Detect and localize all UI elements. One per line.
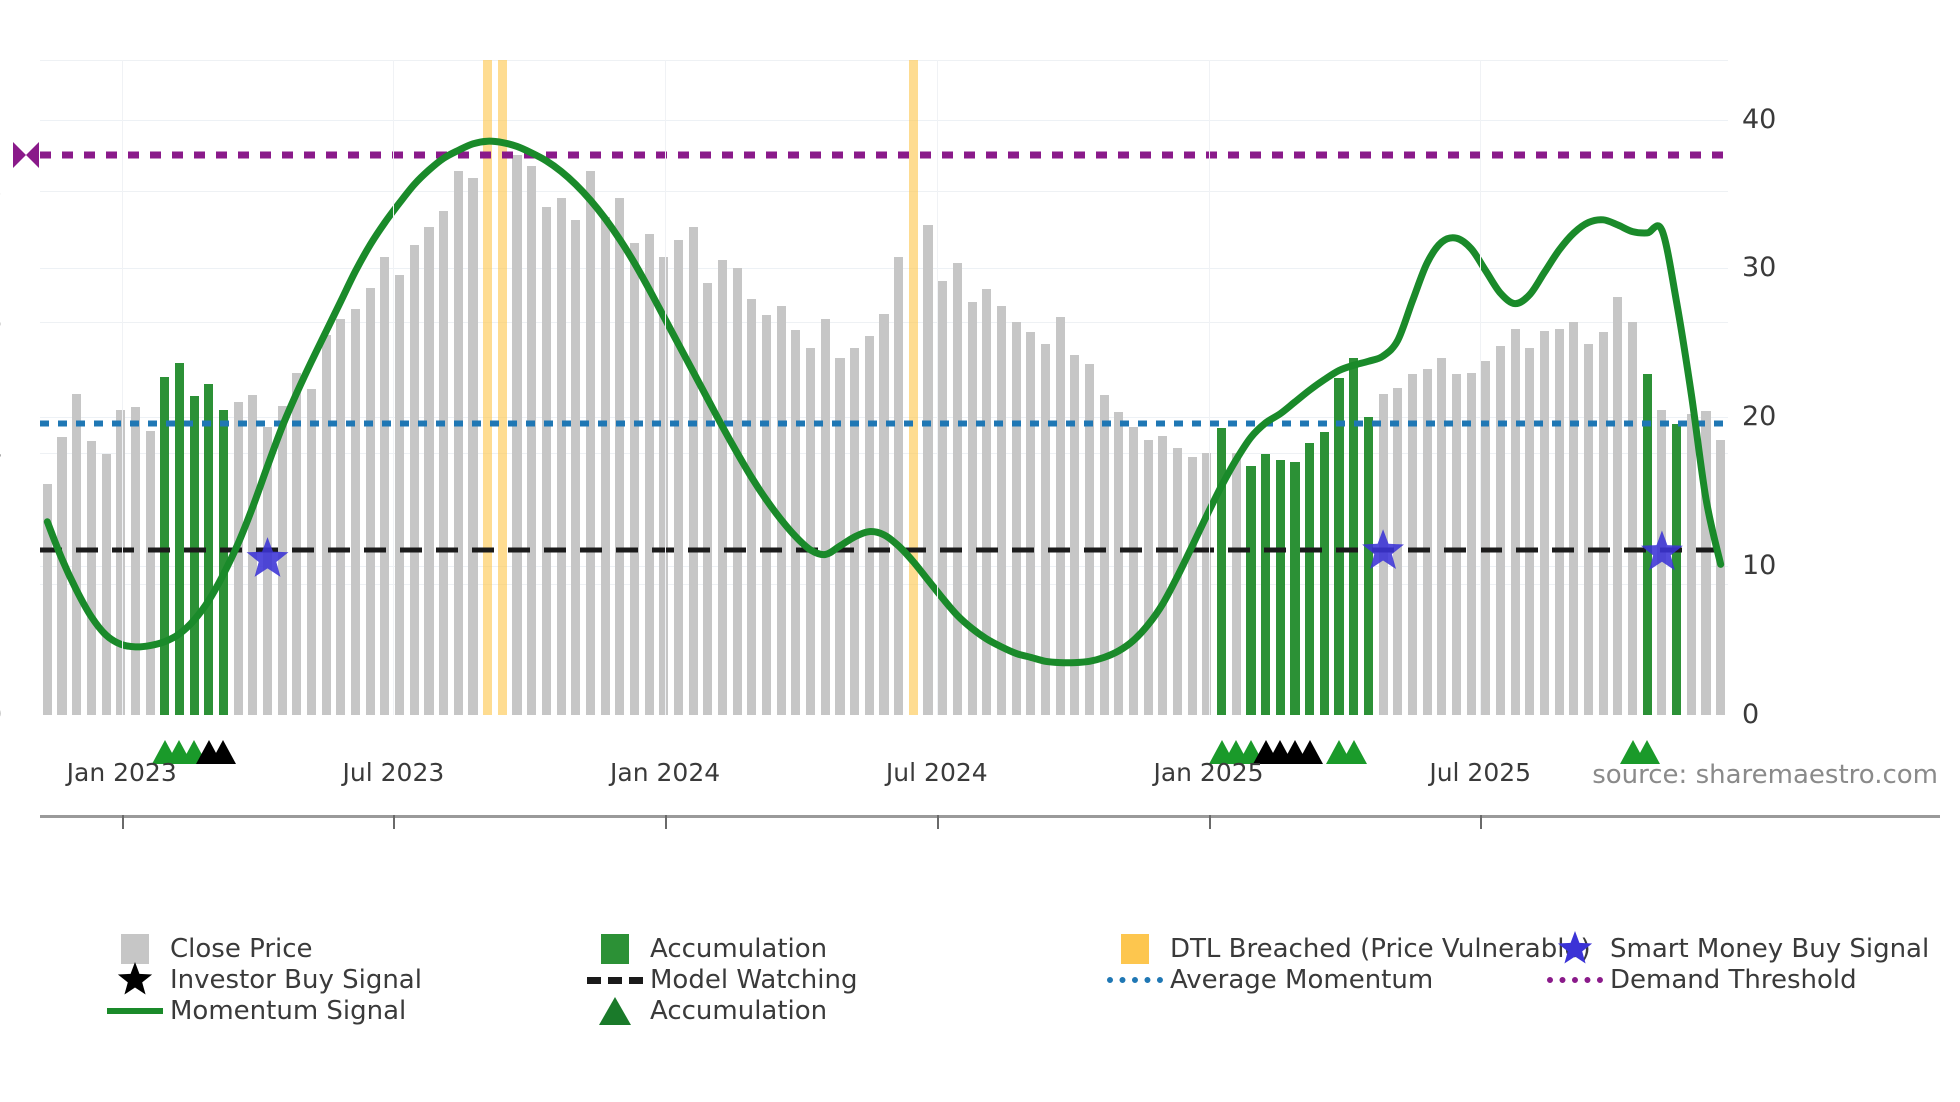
legend-label: Average Momentum [1170,965,1433,995]
source-note: source: sharemaestro.com [1592,760,1938,790]
demand-threshold-swatch-icon [1540,977,1610,983]
legend-item-average-momentum[interactable]: Average Momentum [1100,961,1433,999]
vertical-gridline [937,60,938,715]
legend-label: Investor Buy Signal [170,965,422,995]
chart-legend: Close PriceAccumulationDTL Breached (Pri… [100,930,1940,1050]
x-axis-tick [122,815,124,829]
legend-label: Model Watching [650,965,857,995]
vertical-gridline [1480,60,1481,715]
model-watching-swatch-icon [580,977,650,984]
momentum-signal-line [47,141,1720,663]
smart-money-buy-signal-star [1641,531,1683,571]
chart-overlay [40,60,1728,715]
accumulation-triangle [1341,740,1367,764]
legend-item-accumulation-marker[interactable]: Accumulation [580,992,827,1030]
x-axis-tick-label: Jan 2025 [1153,758,1263,787]
x-axis-tick-label: Jan 2024 [610,758,720,787]
y-axis-right-tick-label: 0 [1742,701,1862,728]
legend-label: Accumulation [650,996,827,1026]
legend-label: DTL Breached (Price Vulnerable) [1170,934,1591,964]
y-axis-left-tick-label: 0.6 [0,308,2,335]
x-axis-tick-label: Jul 2023 [343,758,445,787]
y-axis-left-tick-label: 0.8 [0,177,2,204]
dtl-breached-swatch-icon [1100,934,1170,964]
plot-clip [40,60,1728,715]
smart-money-buy-signal-star [247,537,289,577]
legend-label: Accumulation [650,934,827,964]
x-axis-tick [393,815,395,829]
accumulation-bar-swatch-icon [580,934,650,964]
accumulation-marker-swatch-icon [580,997,650,1025]
momentum-signal-swatch-icon [100,1008,170,1014]
accumulation-triangle [1634,740,1660,764]
x-axis-tick [665,815,667,829]
y-axis-right-tick-label: 30 [1742,254,1862,281]
y-axis-left-tick-label: 0.4 [0,439,2,466]
legend-label: Smart Money Buy Signal [1610,934,1929,964]
legend-item-demand-threshold[interactable]: Demand Threshold [1540,961,1857,999]
average-momentum-swatch-icon [1100,977,1170,983]
vertical-gridline [122,60,123,715]
x-axis-tick-label: Jul 2024 [886,758,988,787]
y-axis-right-tick-label: 10 [1742,552,1862,579]
legend-label: Close Price [170,934,313,964]
x-axis-line [40,815,1940,818]
y-axis-left-tick-label: 0 [0,701,2,728]
x-axis-tick-label: Jan 2023 [67,758,177,787]
legend-item-momentum-signal[interactable]: Momentum Signal [100,992,406,1030]
chart-root: source: sharemaestro.com Close PriceAccu… [0,0,1960,1102]
smart-money-buy-signal-star [1362,529,1404,569]
legend-label: Momentum Signal [170,996,406,1026]
vertical-gridline [665,60,666,715]
legend-label: Demand Threshold [1610,965,1857,995]
y-axis-left-tick-label: 1 [0,46,2,73]
x-axis-tick [1480,815,1482,829]
y-axis-right-tick-label: 20 [1742,403,1862,430]
y-axis-left-tick-label: 0.2 [0,570,2,597]
demand-threshold-marker [13,142,39,168]
investor-buy-signal-triangle [210,740,236,764]
x-axis-tick [1209,815,1211,829]
x-axis-tick [937,815,939,829]
x-axis-tick-label: Jul 2025 [1429,758,1531,787]
plot-area [40,60,1728,715]
y-axis-right-tick-label: 40 [1742,106,1862,133]
vertical-gridline [393,60,394,715]
investor-buy-signal-triangle [1297,740,1323,764]
vertical-gridline [1209,60,1210,715]
